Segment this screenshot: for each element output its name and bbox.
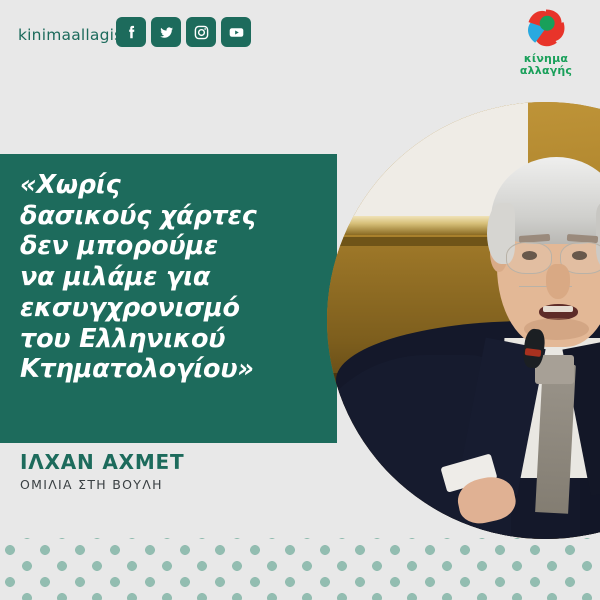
speaker-photo: [327, 102, 600, 539]
header: kinimaallagis: [0, 0, 600, 90]
party-logo[interactable]: κίνημα αλλαγής: [504, 6, 588, 82]
speaker-photo-content: [327, 102, 600, 539]
brand-handle: kinimaallagis: [18, 26, 122, 44]
quote-text: «Χωρίς δασικούς χάρτες δεν μπορούμε να μ…: [20, 170, 320, 385]
kinima-allagis-swirl-logo: [517, 6, 575, 52]
speaker-name: ΙΛΧΑΝ ΑΧΜΕΤ: [20, 452, 184, 472]
instagram-icon[interactable]: [186, 17, 216, 47]
social-links: [116, 17, 251, 47]
party-logo-line2: αλλαγής: [504, 65, 588, 77]
party-logo-text: κίνημα αλλαγής: [504, 53, 588, 76]
social-graphic-card: kinimaallagis: [0, 0, 600, 600]
youtube-icon[interactable]: [221, 17, 251, 47]
facebook-icon[interactable]: [116, 17, 146, 47]
twitter-icon[interactable]: [151, 17, 181, 47]
party-logo-line1: κίνημα: [504, 53, 588, 65]
dot-pattern-decoration: [0, 538, 600, 600]
caption: ΙΛΧΑΝ ΑΧΜΕΤ ΟΜΙΛΙΑ ΣΤΗ ΒΟΥΛΗ: [20, 452, 184, 492]
quote-panel: «Χωρίς δασικούς χάρτες δεν μπορούμε να μ…: [0, 154, 337, 443]
speaker-subtitle: ΟΜΙΛΙΑ ΣΤΗ ΒΟΥΛΗ: [20, 479, 184, 492]
